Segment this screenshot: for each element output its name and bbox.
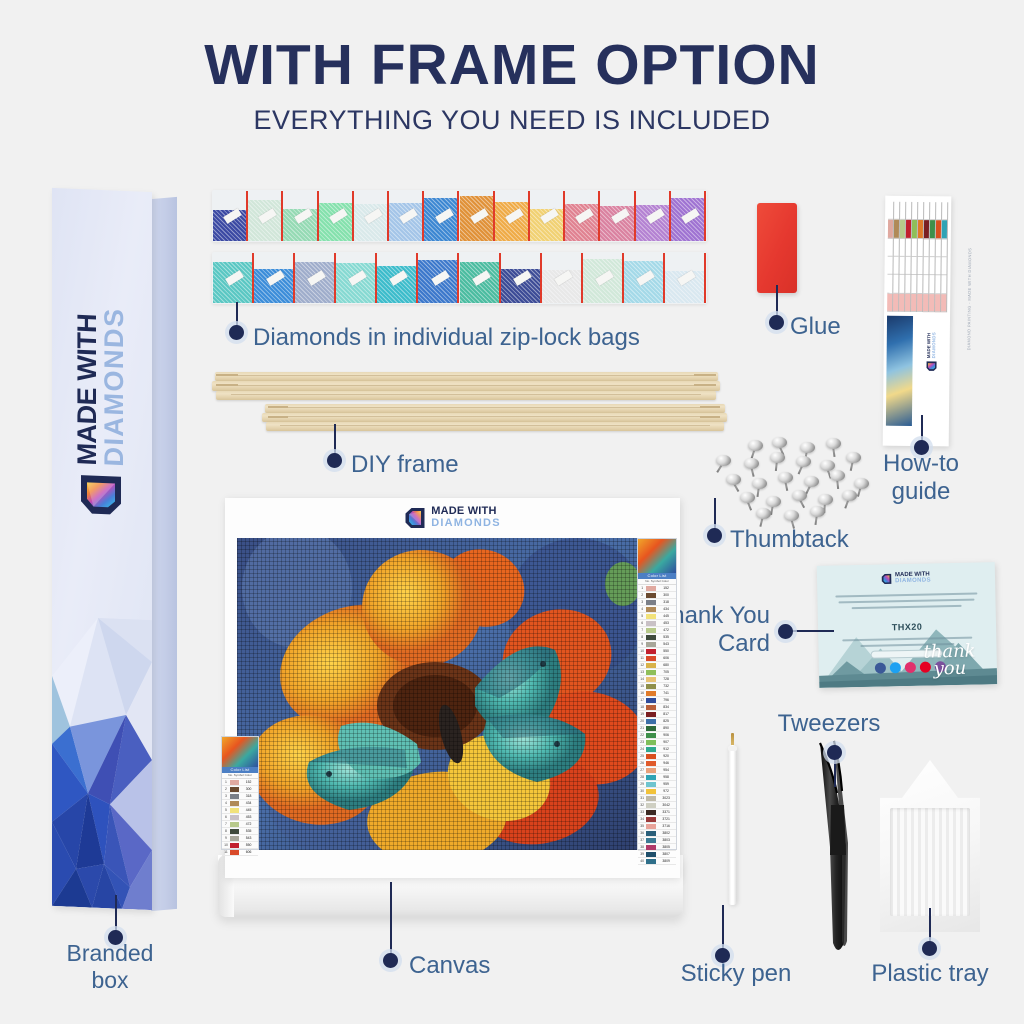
bag-beads: [600, 206, 635, 242]
color-list-row: 13705: [638, 669, 676, 676]
color-row-code: 300: [239, 786, 258, 792]
tray-ridges: [890, 808, 970, 916]
color-list-row: 333371: [638, 809, 676, 816]
guide-table-cell: [941, 257, 946, 275]
guide-table-cell: [887, 275, 892, 293]
leader-line-frame: [334, 424, 336, 456]
page-subtitle: EVERYTHING YOU NEED IS INCLUDED: [0, 105, 1024, 136]
tack-head: [740, 492, 755, 503]
guide-cover-image: [886, 316, 913, 426]
callout-label-bags: Diamonds in individual zip-lock bags: [253, 324, 640, 352]
callout-label-box: Branded box: [35, 940, 185, 994]
guide-table-cell: [929, 294, 934, 312]
color-list-row: 14728: [638, 676, 676, 683]
guide-table-cell: [905, 275, 910, 293]
leader-line-glue: [776, 285, 778, 318]
color-row-code: 472: [239, 821, 258, 827]
bag-beads: [565, 204, 600, 241]
color-row-code: 972: [656, 788, 676, 794]
color-list-rows-right: 1152230033184434544564537472853595431055…: [638, 585, 676, 865]
color-row-index: 21: [638, 725, 646, 731]
color-row-index: 19: [638, 711, 646, 717]
color-row-index: 8: [222, 828, 230, 834]
canvas-brandmark: MADE WITH DIAMONDS: [225, 506, 680, 530]
color-list-row: 343721: [638, 816, 676, 823]
color-list-preview-right: [638, 539, 676, 573]
color-row-swatch: [230, 801, 239, 806]
callout-dot-tray: [922, 941, 937, 956]
color-row-code: 3371: [656, 809, 676, 815]
color-list-row: 22906: [638, 732, 676, 739]
color-list-row: 373803: [638, 837, 676, 844]
color-row-code: 318: [656, 599, 676, 605]
color-row-swatch: [646, 649, 656, 654]
diamond-bag: [460, 253, 501, 303]
color-list-row: 21890: [638, 725, 676, 732]
color-row-index: 11: [222, 849, 230, 855]
color-row-swatch: [646, 586, 656, 591]
guide-table-cell: [893, 257, 898, 275]
thankyou-card-item: MADE WITH DIAMONDS THX20 thank you: [817, 562, 998, 688]
guide-table-cell: [935, 276, 940, 294]
diamond-bag: [542, 253, 583, 303]
guide-table-cell: [942, 239, 947, 257]
color-row-swatch: [646, 677, 656, 682]
guide-table-cell: [887, 293, 892, 311]
color-row-index: 9: [638, 641, 646, 647]
diamond-bag: [530, 191, 565, 241]
guide-table-cell: [935, 257, 940, 275]
color-row-index: 1: [222, 779, 230, 785]
color-row-index: 12: [638, 662, 646, 668]
color-row-code: 445: [656, 613, 676, 619]
diamond-bag: [671, 191, 706, 241]
diamond-bag: [624, 253, 665, 303]
color-row-index: 23: [638, 739, 646, 745]
color-row-swatch: [230, 829, 239, 834]
color-row-index: 31: [638, 795, 646, 801]
color-row-index: 37: [638, 837, 646, 843]
leader-line-guide: [921, 415, 923, 443]
guide-table-cell: [918, 202, 923, 220]
color-list-row: 403809: [638, 858, 676, 865]
callout-dot-tweezers: [827, 745, 842, 760]
diamond-bag: [424, 191, 459, 241]
color-row-code: 3802: [656, 830, 676, 836]
color-row-swatch: [646, 635, 656, 640]
guide-table-cell: [918, 220, 923, 238]
color-row-swatch: [646, 789, 656, 794]
color-list-row: 28958: [638, 774, 676, 781]
color-list-row: 6453: [638, 620, 676, 627]
guide-table-cell: [894, 238, 899, 256]
color-row-swatch: [646, 754, 656, 759]
color-row-index: 34: [638, 816, 646, 822]
color-row-swatch: [646, 712, 656, 717]
diamond-logo-icon: [881, 573, 892, 584]
color-list-row: 1152: [222, 779, 258, 786]
canvas-brand-line1: MADE WITH: [431, 506, 501, 517]
guide-table-cell: [905, 294, 910, 312]
guide-table-cell: [929, 275, 934, 293]
color-list-row: 3318: [638, 599, 676, 606]
twitter-icon: [890, 662, 901, 673]
color-row-code: 680: [656, 662, 676, 668]
color-row-index: 8: [638, 634, 646, 640]
canvas-item: MADE WITH DIAMONDS: [225, 498, 680, 878]
guide-table-cell: [917, 294, 922, 312]
guide-table-cell: [894, 220, 899, 238]
leader-line-canvas: [390, 882, 392, 955]
color-row-index: 7: [638, 627, 646, 633]
callout-label-pen: Sticky pen: [676, 960, 796, 988]
color-list-row: 23907: [638, 739, 676, 746]
guide-table-cell: [912, 202, 917, 220]
tack-head: [726, 474, 741, 485]
color-row-swatch: [646, 642, 656, 647]
guide-table-cell: [906, 220, 911, 238]
tack-head: [810, 506, 825, 517]
color-row-index: 13: [638, 669, 646, 675]
callout-label-thumbtack: Thumbtack: [730, 526, 849, 554]
diamond-bag: [213, 253, 254, 303]
color-list-row: 3318: [222, 793, 258, 800]
color-row-swatch: [646, 600, 656, 605]
guide-table-cell: [911, 275, 916, 293]
color-row-code: 959: [656, 781, 676, 787]
color-row-code: 3716: [656, 823, 676, 829]
color-row-index: 18: [638, 704, 646, 710]
color-list-row: 383805: [638, 844, 676, 851]
facebook-icon: [875, 662, 886, 673]
color-row-code: 3042: [656, 802, 676, 808]
guide-table-cell: [887, 257, 892, 275]
callout-dot-glue: [769, 315, 784, 330]
color-row-index: 15: [638, 683, 646, 689]
guide-table-cell: [930, 202, 935, 220]
diamond-bag: [501, 253, 542, 303]
diamond-bag: [319, 191, 354, 241]
color-list-row: 16741: [638, 690, 676, 697]
color-row-swatch: [646, 719, 656, 724]
guide-table-cell: [899, 275, 904, 293]
color-row-code: 890: [656, 725, 676, 731]
color-list-row: 10550: [638, 648, 676, 655]
color-row-code: 3721: [656, 816, 676, 822]
guide-table-column: [941, 202, 948, 312]
color-list-row: 9543: [222, 835, 258, 842]
callout-label-tweezers: Tweezers: [758, 710, 900, 738]
color-list-row: 11606: [222, 849, 258, 856]
color-list-row: 10550: [222, 842, 258, 849]
diamond-grid-overlay: [237, 538, 649, 850]
color-row-code: 152: [239, 779, 258, 785]
color-row-index: 36: [638, 830, 646, 836]
color-list-row: 8535: [638, 634, 676, 641]
tack-head: [846, 452, 861, 463]
color-row-index: 16: [638, 690, 646, 696]
color-list-row: 393807: [638, 851, 676, 858]
color-list-row: 5445: [638, 613, 676, 620]
guide-table-cell: [923, 257, 928, 275]
color-row-index: 22: [638, 732, 646, 738]
color-list-row: 4434: [222, 800, 258, 807]
color-row-index: 35: [638, 823, 646, 829]
color-row-code: 453: [656, 620, 676, 626]
color-row-code: 3809: [656, 858, 676, 864]
tack-head: [784, 510, 799, 521]
color-row-code: 606: [239, 849, 258, 855]
color-row-code: 152: [656, 585, 676, 591]
color-row-swatch: [646, 628, 656, 633]
box-front-panel: MADE WITH DIAMONDS: [52, 188, 152, 910]
color-row-code: 453: [239, 814, 258, 820]
color-row-swatch: [646, 705, 656, 710]
guide-brand-line2: DIAMONDS: [931, 332, 937, 358]
callout-dot-thumbtack: [707, 528, 722, 543]
color-row-index: 28: [638, 774, 646, 780]
color-list-row: 27954: [638, 767, 676, 774]
color-row-code: 817: [656, 711, 676, 717]
color-row-swatch: [646, 733, 656, 738]
color-row-code: 3803: [656, 837, 676, 843]
color-row-code: 318: [239, 793, 258, 799]
color-row-code: 3805: [656, 844, 676, 850]
color-row-swatch: [646, 747, 656, 752]
plastic-tray-item: [880, 760, 980, 932]
guide-table-cell: [912, 220, 917, 238]
diamond-bag: [295, 253, 336, 303]
guide-table-cell: [930, 239, 935, 257]
color-row-code: 3807: [656, 851, 676, 857]
color-row-index: 3: [222, 793, 230, 799]
color-list-row: 12680: [638, 662, 676, 669]
color-row-code: 535: [239, 828, 258, 834]
color-row-code: 825: [656, 718, 676, 724]
color-row-index: 29: [638, 781, 646, 787]
guide-table-cell: [930, 220, 935, 238]
color-row-swatch: [230, 808, 239, 813]
guide-table-cell: [906, 202, 911, 220]
color-row-index: 39: [638, 851, 646, 857]
howto-guide-item: MADE WITH DIAMONDS DIAMOND PAINTING - MA…: [883, 196, 952, 447]
box-brand-line2: DIAMONDS: [101, 307, 128, 467]
color-list-row: 2300: [638, 592, 676, 599]
color-list-row: 4434: [638, 606, 676, 613]
color-row-code: 728: [656, 676, 676, 682]
color-row-swatch: [646, 859, 656, 864]
guide-table-cell: [918, 239, 923, 257]
branded-box: Sparkle and Shine: [52, 190, 180, 910]
color-row-index: 3: [638, 599, 646, 605]
color-list-row: 30972: [638, 788, 676, 795]
box-side-panel: Sparkle and Shine: [151, 197, 177, 911]
tack-head: [778, 472, 793, 483]
color-row-code: 946: [656, 760, 676, 766]
tack-head: [744, 458, 759, 469]
color-row-swatch: [646, 656, 656, 661]
guide-table-cell: [924, 239, 929, 257]
color-row-swatch: [646, 782, 656, 787]
color-row-code: 958: [656, 774, 676, 780]
tack-head: [826, 438, 841, 449]
color-list-row: 1152: [638, 585, 676, 592]
callout-dot-canvas: [383, 953, 398, 968]
color-list-left: Color List No. Symbol Color 115223003318…: [221, 736, 259, 850]
color-row-index: 4: [638, 606, 646, 612]
color-list-row: 20825: [638, 718, 676, 725]
color-row-code: 434: [239, 800, 258, 806]
color-row-index: 25: [638, 753, 646, 759]
glue-item: [757, 203, 797, 293]
color-row-code: 906: [656, 732, 676, 738]
color-row-index: 5: [222, 807, 230, 813]
guide-table-cell: [900, 202, 905, 220]
guide-table-cell: [888, 220, 893, 238]
callout-label-tray: Plastic tray: [860, 960, 1000, 988]
color-row-index: 7: [222, 821, 230, 827]
thankyou-brand-line2: DIAMONDS: [895, 577, 931, 585]
tack-head: [752, 478, 767, 489]
color-list-row: 6453: [222, 814, 258, 821]
tack-head: [800, 442, 815, 453]
guide-color-table: [887, 202, 948, 313]
callout-dot-bags: [229, 325, 244, 340]
color-list-row: 11606: [638, 655, 676, 662]
guide-brandmark: MADE WITH DIAMONDS: [926, 338, 937, 366]
color-row-swatch: [230, 822, 239, 827]
color-row-index: 4: [222, 800, 230, 806]
bag-zip-seal: [704, 191, 706, 241]
color-row-swatch: [230, 850, 239, 855]
color-row-code: 3023: [656, 795, 676, 801]
color-list-row: 5445: [222, 807, 258, 814]
color-row-swatch: [646, 691, 656, 696]
diamond-bag: [495, 191, 530, 241]
tack-head: [772, 437, 787, 448]
color-row-code: 834: [656, 704, 676, 710]
color-row-code: 954: [656, 767, 676, 773]
tack-head: [818, 494, 833, 505]
color-row-index: 5: [638, 613, 646, 619]
tack-head: [842, 490, 857, 501]
color-row-code: 732: [656, 683, 676, 689]
guide-table-cell: [894, 202, 899, 220]
color-list-preview-left: [222, 737, 258, 767]
color-row-swatch: [230, 780, 239, 785]
color-list-row: 18834: [638, 704, 676, 711]
color-list-row: 26946: [638, 760, 676, 767]
guide-table-cell: [936, 221, 941, 239]
color-row-index: 24: [638, 746, 646, 752]
leader-line-pen: [722, 905, 724, 950]
color-list-row: 29959: [638, 781, 676, 788]
diamond-bag: [254, 253, 295, 303]
color-row-code: 907: [656, 739, 676, 745]
color-row-code: 445: [239, 807, 258, 813]
color-row-code: 606: [656, 655, 676, 661]
diamond-bag: [354, 191, 389, 241]
color-list-row: 24912: [638, 746, 676, 753]
guide-table-cell: [929, 257, 934, 275]
color-row-index: 10: [222, 842, 230, 848]
guide-table-cell: [924, 220, 929, 238]
color-row-swatch: [646, 621, 656, 626]
color-row-index: 32: [638, 802, 646, 808]
diamond-bag: [665, 253, 706, 303]
color-row-index: 1: [638, 585, 646, 591]
diamond-bag: [248, 191, 283, 241]
color-row-swatch: [646, 593, 656, 598]
color-list-row: 7472: [638, 627, 676, 634]
guide-table-cell: [917, 257, 922, 275]
guide-table-cell: [941, 276, 946, 294]
color-row-swatch: [646, 838, 656, 843]
diamond-bag: [283, 191, 318, 241]
leader-line-thumbtack: [714, 498, 716, 531]
guide-table-cell: [941, 294, 946, 312]
color-row-code: 741: [656, 690, 676, 696]
color-row-swatch: [646, 810, 656, 815]
guide-table-cell: [942, 221, 947, 239]
color-row-swatch: [230, 794, 239, 799]
color-row-code: 920: [656, 753, 676, 759]
tack-head: [716, 455, 731, 466]
tack-head: [766, 496, 781, 507]
diamond-logo-icon: [404, 507, 426, 529]
bag-beads: [354, 204, 389, 241]
box-brand-line1: MADE WITH: [74, 306, 101, 466]
color-row-index: 14: [638, 676, 646, 682]
color-list-row: 313023: [638, 795, 676, 802]
tack-head: [796, 456, 811, 467]
color-row-code: 705: [656, 669, 676, 675]
diamond-bag: [418, 253, 459, 303]
color-row-code: 535: [656, 634, 676, 640]
diamond-logo-icon: [926, 360, 937, 371]
tack-head: [770, 452, 785, 463]
color-row-swatch: [646, 831, 656, 836]
diamond-logo-icon: [79, 472, 123, 518]
color-list-row: 17796: [638, 697, 676, 704]
color-row-index: 17: [638, 697, 646, 703]
color-row-swatch: [646, 726, 656, 731]
color-row-code: 300: [656, 592, 676, 598]
color-row-index: 27: [638, 767, 646, 773]
tack-head: [830, 470, 845, 481]
color-row-index: 2: [222, 786, 230, 792]
color-row-index: 6: [638, 620, 646, 626]
color-list-row: 7472: [222, 821, 258, 828]
color-row-swatch: [646, 768, 656, 773]
color-list-rows-left: 1152230033184434544564537472853595431055…: [222, 779, 258, 856]
tack-head: [756, 508, 771, 519]
color-row-swatch: [646, 670, 656, 675]
color-list-row: 15732: [638, 683, 676, 690]
color-list-row: 8535: [222, 828, 258, 835]
guide-table-cell: [911, 257, 916, 275]
color-row-index: 2: [638, 592, 646, 598]
callout-label-frame: DIY frame: [351, 451, 459, 479]
tack-head: [854, 478, 869, 489]
tack-head: [804, 476, 819, 487]
guide-table-cell: [888, 202, 893, 220]
guide-table-cell: [906, 239, 911, 257]
guide-table-cell: [900, 238, 905, 256]
callout-label-guide: How-to guide: [856, 450, 986, 507]
color-list-right: Color List No. Symbol Color 115223003318…: [637, 538, 677, 850]
color-row-swatch: [646, 803, 656, 808]
